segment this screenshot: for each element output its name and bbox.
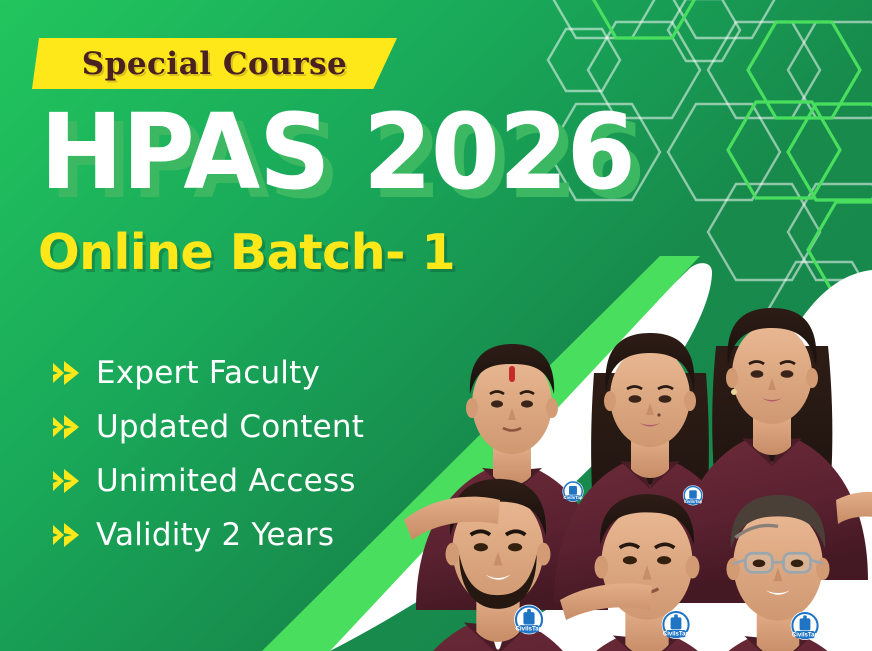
feature-label: Expert Faculty: [96, 356, 320, 390]
feature-label: Unimited Access: [96, 464, 356, 498]
svg-text:CivilsTap: CivilsTap: [515, 626, 542, 633]
svg-text:CivilsTap: CivilsTap: [663, 631, 690, 637]
double-chevron-right-icon: [52, 468, 92, 494]
svg-text:CivilsTap: CivilsTap: [563, 495, 583, 500]
list-item: Unimited Access: [52, 464, 364, 498]
page-subtitle: Online Batch- 1: [38, 222, 455, 284]
double-chevron-right-icon: [52, 360, 92, 386]
ribbon-label: Special Course: [82, 46, 348, 82]
list-item: Expert Faculty: [52, 356, 364, 390]
svg-text:CivilsTap: CivilsTap: [684, 499, 703, 504]
svg-text:CivilsTap: CivilsTap: [792, 632, 819, 638]
double-chevron-right-icon: [52, 522, 92, 548]
list-item: Updated Content: [52, 410, 364, 444]
feature-list: Expert Faculty Updated Content Unimited …: [52, 356, 364, 552]
list-item: Validity 2 Years: [52, 518, 364, 552]
feature-label: Validity 2 Years: [96, 518, 334, 552]
page-title: HPAS 2026: [40, 104, 635, 200]
double-chevron-right-icon: [52, 414, 92, 440]
feature-label: Updated Content: [96, 410, 364, 444]
promotional-banner: CivilsTap CivilsTap CivilsTap: [0, 0, 872, 651]
special-course-ribbon: Special Course: [32, 38, 397, 89]
